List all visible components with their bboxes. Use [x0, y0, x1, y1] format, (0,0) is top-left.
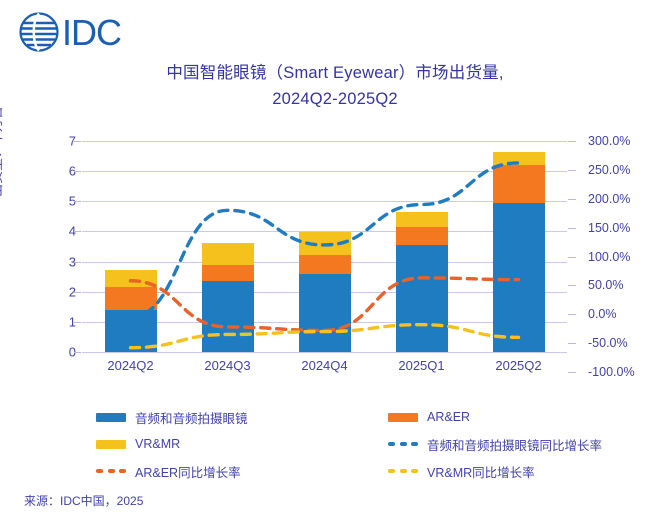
legend-label: AR&ER	[427, 410, 470, 424]
legend-dash-swatch	[388, 467, 418, 476]
chart-page: IDC 中国智能眼镜（Smart Eyewear）市场出货量, 2024Q2-2…	[0, 0, 668, 532]
bar-group	[105, 141, 157, 352]
legend-item[interactable]: AR&ER	[388, 408, 470, 426]
y-axis-right-tick-label: -50.0%	[588, 336, 628, 350]
x-axis-tick-label: 2025Q2	[469, 358, 569, 373]
bar-segment	[105, 270, 157, 287]
y-axis-right-labels: 300.0%250.0%200.0%150.0%100.0%50.0%0.0%-…	[588, 131, 662, 362]
legend-label: 音频和音频拍摄眼镜同比增长率	[427, 435, 602, 454]
bar-group	[299, 141, 351, 352]
y-axis-left-tick	[74, 322, 81, 323]
y-axis-right-tick	[568, 285, 576, 286]
y-axis-title: 出货量：十万台	[0, 106, 5, 197]
x-axis-tick-label: 2024Q2	[81, 358, 181, 373]
bar-segment	[202, 243, 254, 265]
chart-title: 中国智能眼镜（Smart Eyewear）市场出货量, 2024Q2-2025Q…	[90, 60, 580, 112]
y-axis-left-tick	[74, 262, 81, 263]
legend-item[interactable]: VR&MR同比增长率	[388, 462, 535, 480]
legend-item[interactable]: VR&MR	[96, 435, 180, 453]
bar-group	[396, 141, 448, 352]
y-axis-right-tick-label: 300.0%	[588, 134, 630, 148]
idc-logo: IDC	[18, 10, 136, 54]
y-axis-right-tick-label: -100.0%	[588, 365, 635, 379]
legend-color-swatch	[96, 413, 126, 422]
x-axis-tick-label: 2024Q4	[275, 358, 375, 373]
y-axis-right-tick	[568, 314, 576, 315]
y-axis-left-tick	[74, 231, 81, 232]
legend-label: AR&ER同比增长率	[135, 462, 241, 481]
bar-series-group	[82, 141, 567, 352]
y-axis-right-tick-label: 150.0%	[588, 221, 630, 235]
x-axis-tick-label: 2024Q3	[178, 358, 278, 373]
y-axis-right-tick	[568, 199, 576, 200]
y-axis-left-tick	[74, 292, 81, 293]
y-axis-right-tick	[568, 141, 576, 142]
y-axis-left-tick	[74, 141, 81, 142]
legend-item[interactable]: 音频和音频拍摄眼镜	[96, 408, 248, 426]
bar-segment	[105, 287, 157, 310]
source-note: 来源：IDC中国，2025	[24, 492, 143, 509]
bar-segment	[493, 203, 545, 352]
legend-dash-swatch	[96, 467, 126, 476]
y-axis-right-tick-label: 200.0%	[588, 192, 630, 206]
bar-segment	[396, 245, 448, 352]
y-axis-right-tick-label: 0.0%	[588, 307, 617, 321]
legend-color-swatch	[388, 413, 418, 422]
chart-title-line2: 2024Q2-2025Q2	[90, 86, 580, 112]
legend-dash-swatch	[388, 440, 418, 449]
legend-item[interactable]: AR&ER同比增长率	[96, 462, 241, 480]
bar-segment	[493, 165, 545, 203]
x-axis-labels: 2024Q22024Q32024Q42025Q12025Q2	[82, 358, 567, 380]
y-axis-right-tick	[568, 343, 576, 344]
chart-title-line1: 中国智能眼镜（Smart Eyewear）市场出货量,	[90, 60, 580, 86]
y-axis-left-tick	[74, 201, 81, 202]
y-axis-right-tick-label: 100.0%	[588, 250, 630, 264]
chart-legend: 音频和音频拍摄眼镜AR&ERVR&MR音频和音频拍摄眼镜同比增长率AR&ER同比…	[96, 408, 656, 488]
legend-color-swatch	[96, 440, 126, 449]
y-axis-right-tick-label: 250.0%	[588, 163, 630, 177]
y-axis-right-tick	[568, 170, 576, 171]
bar-segment	[299, 255, 351, 274]
bar-segment	[299, 274, 351, 352]
svg-text:IDC: IDC	[62, 12, 121, 53]
bar-segment	[202, 265, 254, 281]
y-axis-left-tick	[74, 171, 81, 172]
bar-segment	[202, 281, 254, 352]
bar-segment	[299, 232, 351, 255]
globe-icon	[21, 14, 58, 51]
y-axis-right-tick	[568, 228, 576, 229]
legend-label: VR&MR	[135, 437, 180, 451]
legend-label: 音频和音频拍摄眼镜	[135, 408, 248, 427]
bar-segment	[396, 227, 448, 245]
bar-segment	[105, 310, 157, 352]
x-axis-tick-label: 2025Q1	[372, 358, 472, 373]
x-axis-line	[82, 352, 567, 353]
legend-item[interactable]: 音频和音频拍摄眼镜同比增长率	[388, 435, 602, 453]
legend-label: VR&MR同比增长率	[427, 462, 535, 481]
bar-segment	[493, 152, 545, 165]
bar-segment	[396, 212, 448, 227]
y-axis-left-labels: 76543210	[52, 131, 76, 362]
bar-group	[202, 141, 254, 352]
y-axis-left-tick	[74, 352, 81, 353]
bar-group	[493, 141, 545, 352]
y-axis-right-tick	[568, 372, 576, 373]
y-axis-right-tick-label: 50.0%	[588, 278, 623, 292]
y-axis-right-tick	[568, 257, 576, 258]
